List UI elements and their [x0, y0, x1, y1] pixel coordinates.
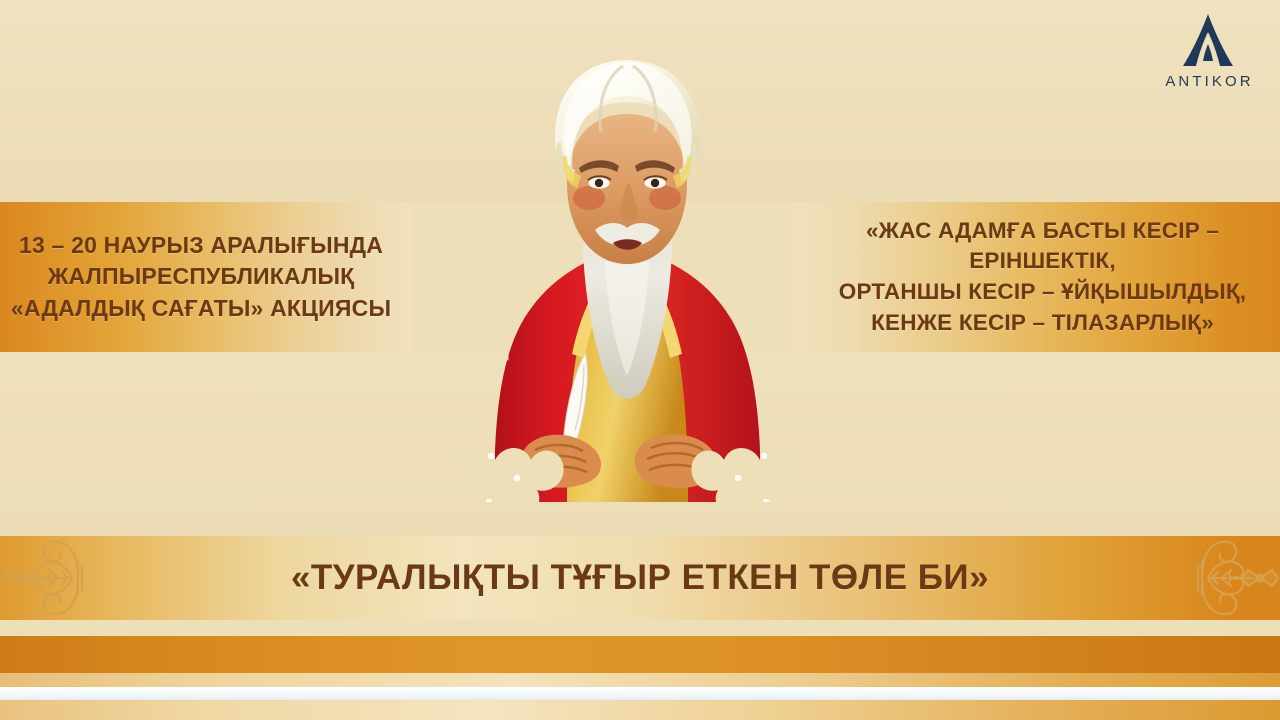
banner-left-text: 13 – 20 НАУРЫЗ АРАЛЫҒЫНДА ЖАЛПЫРЕСПУБЛИК… — [11, 230, 391, 324]
footer-stripe-gold-lower — [0, 700, 1280, 720]
poster-canvas: 13 – 20 НАУРЫЗ АРАЛЫҒЫНДА ЖАЛПЫРЕСПУБЛИК… — [0, 0, 1280, 720]
banner-right: «ЖАС АДАМҒА БАСТЫ КЕСІР – ЕРІНШЕКТІК, ОР… — [793, 202, 1280, 352]
title-band: «ТУРАЛЫҚТЫ ТҰҒЫР ЕТКЕН ТӨЛЕ БИ» — [0, 536, 1280, 620]
antikor-a-mark-icon — [1181, 14, 1235, 66]
antikor-wordmark: ANTIKOR — [1160, 73, 1256, 90]
antikor-logo: ANTIKOR — [1160, 14, 1256, 90]
footer-stripe-orange — [0, 636, 1280, 673]
footer-stripe-white — [0, 687, 1280, 700]
banner-left: 13 – 20 НАУРЫЗ АРАЛЫҒЫНДА ЖАЛПЫРЕСПУБЛИК… — [0, 202, 412, 352]
footer-stripe-gold-upper — [0, 673, 1280, 687]
tole-bi-portrait — [455, 52, 800, 502]
poster-title: «ТУРАЛЫҚТЫ ТҰҒЫР ЕТКЕН ТӨЛЕ БИ» — [291, 558, 989, 598]
banner-right-text: «ЖАС АДАМҒА БАСТЫ КЕСІР – ЕРІНШЕКТІК, ОР… — [805, 216, 1280, 338]
